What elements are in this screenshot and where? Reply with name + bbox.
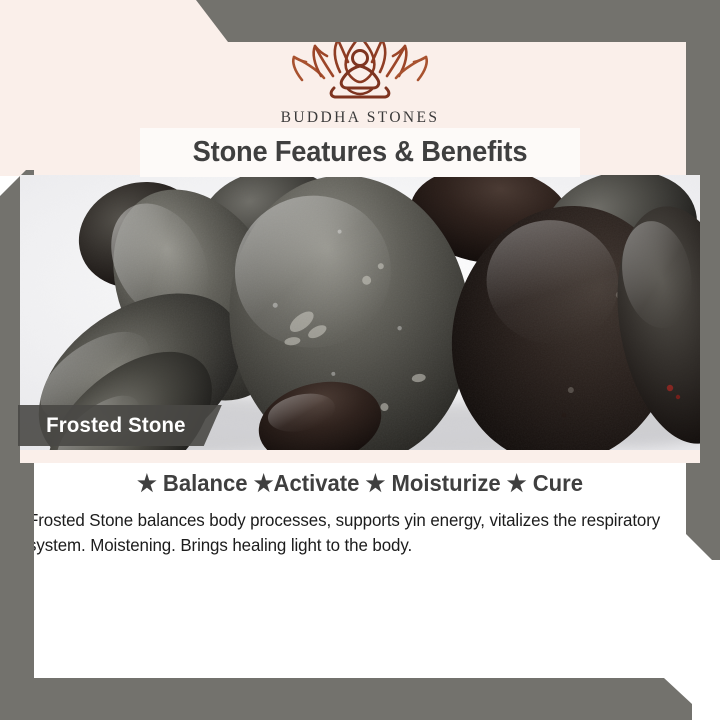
- page-title: Stone Features & Benefits: [193, 136, 528, 169]
- infographic-card: BUDDHA STONES Stone Features & Benefits: [0, 0, 720, 720]
- frame-bottom-accent: [0, 678, 720, 720]
- brand-name: BUDDHA STONES: [281, 109, 440, 127]
- photo-caption-label: Frosted Stone: [46, 414, 185, 438]
- title-banner: Stone Features & Benefits: [140, 128, 580, 177]
- photo-caption-tag: Frosted Stone: [18, 405, 222, 446]
- description-text: Frosted Stone balances body processes, s…: [28, 508, 686, 558]
- benefits-line: ★ Balance ★Activate ★ Moisturize ★ Cure: [14, 470, 705, 497]
- photo-bottom-strip: [20, 450, 700, 463]
